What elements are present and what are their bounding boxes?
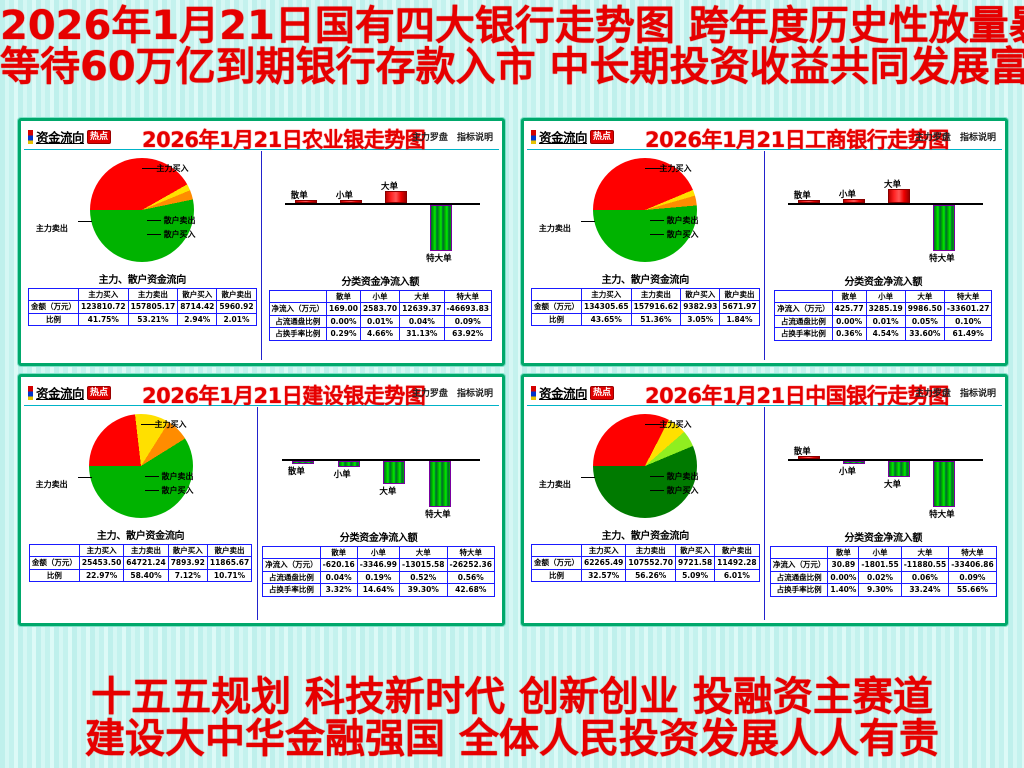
fund-flow-pie-column: 主力买入 散户卖出 散户买入 主力卖出 主力、散户资金流向 主力买入	[527, 407, 765, 620]
row-turnover-ratio-label: 占换手率比例	[775, 328, 833, 340]
pie-label-retail-buy: 散户买入	[162, 485, 194, 496]
cell-net-1: -1801.55	[859, 559, 901, 571]
col-retail-buy: 散户买入	[168, 545, 207, 557]
bar-table-title: 分类资金净流入额	[765, 273, 1002, 288]
row-ratio-label: 比例	[29, 313, 79, 325]
corner-cell	[775, 291, 833, 303]
col-small: 小单	[859, 547, 901, 559]
col-scattered: 散单	[320, 547, 357, 559]
row-net-inflow-label: 净流入（万元）	[775, 303, 833, 315]
col-retail-sell: 散户卖出	[720, 289, 759, 301]
cell-ratio-0: 32.57%	[582, 569, 626, 581]
corner-cell	[532, 289, 582, 301]
cell-net-1: 3285.19	[866, 303, 905, 315]
bar-table-title: 分类资金净流入额	[258, 529, 499, 544]
bank-panel-icbc: 资金流向 热点 2026年1月21日工商银行走势图 主力罗盘 指标说明 主力买入…	[521, 118, 1008, 366]
fund-flow-tag[interactable]: 资金流向 热点	[531, 383, 614, 402]
cell-amount-2: 9721.58	[676, 557, 715, 569]
bar-label-3: 特大单	[426, 252, 452, 264]
bar-小单	[338, 461, 360, 467]
pie-leader-0	[645, 424, 661, 425]
pie-label-retail-sell: 散户卖出	[667, 215, 699, 226]
panel-header: 资金流向 热点 2026年1月21日中国银行走势图 主力罗盘 指标说明	[527, 380, 1002, 406]
bar-特大单	[933, 205, 955, 251]
cell-net-1: 2583.70	[360, 303, 399, 315]
bar-大单	[385, 191, 407, 203]
cell-net-0: -620.16	[320, 559, 357, 571]
fund-flow-pie-column: 主力买入 散户卖出 散户买入 主力卖出 主力、散户资金流向 主力买入	[24, 407, 258, 620]
row-turnover-ratio-label: 占换手率比例	[770, 584, 828, 596]
net-inflow-bar-column: 散单 小单 大单 特大单 分类资金净流入额 散单 小单 大单 特大单	[765, 407, 1002, 620]
row-net-inflow-label: 净流入（万元）	[263, 559, 321, 571]
cell-amount-3: 5671.97	[720, 301, 759, 313]
cell-amount-0: 62265.49	[582, 557, 626, 569]
bar-label-3: 特大单	[425, 508, 451, 520]
pie-leader-3	[78, 477, 92, 478]
cell-turn-0: 1.40%	[828, 584, 859, 596]
fund-flow-label: 资金流向	[539, 127, 587, 146]
tool-indicator-help-link[interactable]: 指标说明	[960, 133, 996, 143]
table-row: 比例 43.65% 51.36% 3.05% 1.84%	[532, 313, 760, 325]
table-header-row: 散单 小单 大单 特大单	[263, 547, 495, 559]
cell-turn-0: 0.36%	[832, 328, 866, 340]
row-net-inflow-label: 净流入（万元）	[770, 559, 828, 571]
col-retail-buy: 散户买入	[681, 289, 720, 301]
cell-turn-1: 4.66%	[360, 328, 399, 340]
bar-label-0: 散单	[291, 189, 308, 201]
classified-net-inflow-table: 散单 小单 大单 特大单 净流入（万元） 30.89 -1801.55 -118…	[770, 546, 997, 597]
pie-chart: 主力买入 散户卖出 散户买入 主力卖出	[527, 151, 764, 269]
bar-label-1: 小单	[839, 465, 856, 477]
main-retail-flow-table: 主力买入 主力卖出 散户买入 散户卖出 金额（万元） 25453.50 6472…	[29, 544, 252, 582]
pie-leader-2	[145, 490, 159, 491]
net-inflow-bar-column: 散单 小单 大单 特大单 分类资金净流入额 散单 小单 大单 特大单	[262, 151, 499, 360]
col-extra-large: 特大单	[944, 291, 992, 303]
bars-icon	[28, 386, 33, 400]
main-retail-flow-table: 主力买入 主力卖出 散户买入 散户卖出 金额（万元） 134305.65 157…	[531, 288, 760, 326]
bars-icon	[531, 130, 536, 144]
table-row: 金额（万元） 123810.72 157805.17 8714.42 5960.…	[29, 301, 257, 313]
cell-ratio-3: 1.84%	[720, 313, 759, 325]
row-amount-label: 金额（万元）	[532, 301, 582, 313]
tool-indicator-help-link[interactable]: 指标说明	[457, 389, 493, 399]
col-retail-sell: 散户卖出	[715, 545, 759, 557]
pie-label-retail-sell: 散户卖出	[164, 215, 196, 226]
pie-leader-1	[650, 476, 664, 477]
bars-icon	[531, 386, 536, 400]
cell-amount-1: 107552.70	[626, 557, 676, 569]
pie-label-main-sell: 主力卖出	[36, 223, 68, 234]
pie-table-title: 主力、散户资金流向	[527, 271, 764, 286]
table-row: 占换手率比例 1.40% 9.30% 33.24% 55.66%	[770, 584, 996, 596]
cell-turn-3: 42.68%	[447, 584, 495, 596]
cell-amount-3: 11492.28	[715, 557, 759, 569]
row-turnover-ratio-label: 占换手率比例	[269, 328, 327, 340]
table-header-row: 散单 小单 大单 特大单	[269, 291, 492, 303]
cell-turn-1: 14.64%	[357, 584, 399, 596]
pie-leader-2	[650, 234, 664, 235]
cell-net-0: 169.00	[327, 303, 361, 315]
corner-cell	[532, 545, 582, 557]
table-row: 占流通盘比例 0.04% 0.19% 0.52% 0.56%	[263, 571, 495, 583]
pie-leader-3	[78, 221, 92, 222]
panel-title: 2026年1月21日工商银行走势图	[645, 124, 949, 154]
pie-leader-2	[147, 234, 161, 235]
cell-ratio-3: 2.01%	[217, 313, 256, 325]
top-headline: 2026年1月21日国有四大银行走势图 跨年度历史性放量暴跌 等待60万亿到期银…	[0, 6, 1024, 88]
cell-amount-1: 157805.17	[128, 301, 178, 313]
table-row: 比例 32.57% 56.26% 5.09% 6.01%	[532, 569, 760, 581]
bar-大单	[383, 461, 405, 484]
pie-leader-0	[645, 168, 661, 169]
cell-float-3: 0.56%	[447, 571, 495, 583]
bottom-headline-line-1: 十五五规划 科技新时代 创新创业 投融资主赛道	[0, 676, 1024, 718]
pie-label-retail-buy: 散户买入	[667, 485, 699, 496]
cell-float-2: 0.04%	[400, 315, 444, 327]
row-turnover-ratio-label: 占换手率比例	[263, 584, 321, 596]
classified-net-inflow-table: 散单 小单 大单 特大单 净流入（万元） 425.77 3285.19 9986…	[774, 290, 992, 341]
pie-label-retail-buy: 散户买入	[164, 229, 196, 240]
cell-net-2: -11880.55	[901, 559, 949, 571]
cell-float-3: 0.09%	[444, 315, 492, 327]
bar-table-title: 分类资金净流入额	[765, 529, 1002, 544]
cell-turn-2: 33.60%	[905, 328, 944, 340]
table-row: 占流通盘比例 0.00% 0.02% 0.06% 0.09%	[770, 571, 996, 583]
cell-ratio-2: 7.12%	[168, 569, 207, 581]
cell-ratio-1: 51.36%	[631, 313, 681, 325]
pie-leader-1	[650, 220, 664, 221]
panel-title: 2026年1月21日中国银行走势图	[645, 380, 949, 410]
tool-compass-link[interactable]: 主力罗盘	[915, 133, 951, 143]
row-ratio-label: 比例	[29, 569, 79, 581]
cell-float-1: 0.02%	[859, 571, 901, 583]
cell-float-0: 0.04%	[320, 571, 357, 583]
cell-float-2: 0.05%	[905, 315, 944, 327]
pie-label-main-sell: 主力卖出	[539, 223, 571, 234]
fund-flow-tag[interactable]: 资金流向 热点	[28, 127, 111, 146]
hot-badge: 热点	[87, 386, 111, 400]
cell-net-3: -46693.83	[444, 303, 492, 315]
corner-cell	[770, 547, 828, 559]
cell-float-2: 0.52%	[400, 571, 448, 583]
row-ratio-label: 比例	[532, 569, 582, 581]
main-retail-flow-table: 主力买入 主力卖出 散户买入 散户卖出 金额（万元） 62265.49 1075…	[531, 544, 760, 582]
hot-badge: 热点	[87, 130, 111, 144]
cell-amount-2: 9382.93	[681, 301, 720, 313]
col-main-buy: 主力买入	[582, 545, 626, 557]
cell-float-1: 0.19%	[357, 571, 399, 583]
cell-float-3: 0.09%	[949, 571, 997, 583]
panel-title: 2026年1月21日建设银走势图	[142, 380, 425, 410]
bank-panel-boc: 资金流向 热点 2026年1月21日中国银行走势图 主力罗盘 指标说明 主力买入…	[521, 374, 1008, 626]
row-float-ratio-label: 占流通盘比例	[775, 315, 833, 327]
bar-chart: 散单 小单 大单 特大单	[765, 151, 1002, 271]
pie-label-retail-sell: 散户卖出	[162, 471, 194, 482]
cell-turn-3: 61.49%	[944, 328, 992, 340]
bar-特大单	[933, 461, 955, 507]
pie-leader-2	[650, 490, 664, 491]
corner-cell	[269, 291, 327, 303]
row-float-ratio-label: 占流通盘比例	[269, 315, 327, 327]
pie-label-retail-buy: 散户买入	[667, 229, 699, 240]
cell-amount-0: 134305.65	[582, 301, 632, 313]
fund-flow-tag[interactable]: 资金流向 热点	[531, 127, 614, 146]
table-row: 净流入（万元） 30.89 -1801.55 -11880.55 -33406.…	[770, 559, 996, 571]
tool-compass-link[interactable]: 主力罗盘	[915, 389, 951, 399]
net-inflow-bar-column: 散单 小单 大单 特大单 分类资金净流入额 散单 小单 大单 特大单	[258, 407, 499, 620]
col-large: 大单	[400, 547, 448, 559]
pie-label-main-sell: 主力卖出	[539, 479, 571, 490]
bar-label-2: 大单	[379, 485, 396, 497]
pie-leader-1	[147, 220, 161, 221]
cell-ratio-0: 43.65%	[582, 313, 632, 325]
bar-label-2: 大单	[884, 478, 901, 490]
cell-turn-0: 3.32%	[320, 584, 357, 596]
col-small: 小单	[360, 291, 399, 303]
table-row: 比例 22.97% 58.40% 7.12% 10.71%	[29, 569, 251, 581]
table-row: 金额（万元） 134305.65 157916.62 9382.93 5671.…	[532, 301, 760, 313]
panel-title: 2026年1月21日农业银走势图	[142, 124, 425, 154]
panel-header: 资金流向 热点 2026年1月21日农业银走势图 主力罗盘 指标说明	[24, 124, 499, 150]
bar-label-0: 散单	[288, 465, 305, 477]
pie-label-main-buy: 主力买入	[659, 419, 691, 430]
cell-net-3: -33601.27	[944, 303, 992, 315]
tool-indicator-help-link[interactable]: 指标说明	[457, 133, 493, 143]
bank-panel-abc: 资金流向 热点 2026年1月21日农业银走势图 主力罗盘 指标说明 主力买入 …	[18, 118, 505, 366]
row-amount-label: 金额（万元）	[29, 557, 79, 569]
cell-net-2: 9986.50	[905, 303, 944, 315]
fund-flow-pie-column: 主力买入 散户卖出 散户买入 主力卖出 主力、散户资金流向 主力买入	[527, 151, 765, 360]
col-extra-large: 特大单	[949, 547, 997, 559]
fund-flow-tag[interactable]: 资金流向 热点	[28, 383, 111, 402]
cell-net-3: -26252.36	[447, 559, 495, 571]
bar-label-0: 散单	[794, 445, 811, 457]
tool-compass-link[interactable]: 主力罗盘	[412, 133, 448, 143]
bars-icon	[28, 130, 33, 144]
col-main-sell: 主力卖出	[626, 545, 676, 557]
cell-ratio-0: 22.97%	[79, 569, 123, 581]
tool-compass-link[interactable]: 主力罗盘	[412, 389, 448, 399]
cell-float-1: 0.01%	[866, 315, 905, 327]
bar-散单	[292, 461, 314, 464]
bottom-headline-line-2: 建设大中华金融强国 全体人民投资发展人人有责	[0, 718, 1024, 760]
col-large: 大单	[901, 547, 949, 559]
net-inflow-bar-column: 散单 小单 大单 特大单 分类资金净流入额 散单 小单 大单 特大单	[765, 151, 1002, 360]
table-row: 比例 41.75% 53.21% 2.94% 2.01%	[29, 313, 257, 325]
bar-label-1: 小单	[839, 188, 856, 200]
cell-ratio-3: 10.71%	[207, 569, 251, 581]
bar-特大单	[429, 461, 451, 507]
cell-turn-1: 9.30%	[859, 584, 901, 596]
cell-turn-2: 33.24%	[901, 584, 949, 596]
bar-label-0: 散单	[794, 189, 811, 201]
corner-cell	[29, 289, 79, 301]
cell-turn-0: 0.29%	[327, 328, 361, 340]
cell-net-0: 30.89	[828, 559, 859, 571]
pie-label-main-buy: 主力买入	[155, 419, 187, 430]
pie-table-title: 主力、散户资金流向	[24, 527, 257, 542]
pie-chart: 主力买入 散户卖出 散户买入 主力卖出	[24, 407, 257, 525]
bank-panel-grid: 资金流向 热点 2026年1月21日农业银走势图 主力罗盘 指标说明 主力买入 …	[18, 118, 1008, 638]
bottom-headline: 十五五规划 科技新时代 创新创业 投融资主赛道 建设大中华金融强国 全体人民投资…	[0, 676, 1024, 760]
pie-chart: 主力买入 散户卖出 散户买入 主力卖出	[527, 407, 764, 525]
panel-tools[interactable]: 主力罗盘 指标说明	[406, 130, 493, 143]
panel-header: 资金流向 热点 2026年1月21日工商银行走势图 主力罗盘 指标说明	[527, 124, 1002, 150]
pie-label-retail-sell: 散户卖出	[667, 471, 699, 482]
cell-ratio-1: 56.26%	[626, 569, 676, 581]
cell-turn-3: 55.66%	[949, 584, 997, 596]
col-scattered: 散单	[327, 291, 361, 303]
table-row: 净流入（万元） -620.16 -3346.99 -13015.58 -2625…	[263, 559, 495, 571]
col-extra-large: 特大单	[444, 291, 492, 303]
bar-table-title: 分类资金净流入额	[262, 273, 499, 288]
cell-amount-1: 64721.24	[124, 557, 168, 569]
col-scattered: 散单	[828, 547, 859, 559]
col-small: 小单	[866, 291, 905, 303]
panel-tools[interactable]: 主力罗盘 指标说明	[909, 386, 996, 399]
table-header-row: 主力买入 主力卖出 散户买入 散户卖出	[532, 289, 760, 301]
row-float-ratio-label: 占流通盘比例	[770, 571, 828, 583]
table-header-row: 主力买入 主力卖出 散户买入 散户卖出	[532, 545, 760, 557]
table-header-row: 主力买入 主力卖出 散户买入 散户卖出	[29, 289, 257, 301]
fund-flow-label: 资金流向	[539, 383, 587, 402]
pie-label-main-buy: 主力买入	[156, 163, 188, 174]
cell-ratio-1: 53.21%	[128, 313, 178, 325]
col-extra-large: 特大单	[447, 547, 495, 559]
cell-ratio-2: 2.94%	[178, 313, 217, 325]
cell-amount-3: 5960.92	[217, 301, 256, 313]
cell-ratio-3: 6.01%	[715, 569, 759, 581]
bar-大单	[888, 461, 910, 477]
bar-chart: 散单 小单 大单 特大单	[765, 407, 1002, 527]
cell-amount-2: 7893.92	[168, 557, 207, 569]
table-row: 占换手率比例 0.36% 4.54% 33.60% 61.49%	[775, 328, 992, 340]
row-ratio-label: 比例	[532, 313, 582, 325]
cell-float-2: 0.06%	[901, 571, 949, 583]
col-small: 小单	[357, 547, 399, 559]
classified-net-inflow-table: 散单 小单 大单 特大单 净流入（万元） -620.16 -3346.99 -1…	[262, 546, 495, 597]
corner-cell	[263, 547, 321, 559]
fund-flow-pie-column: 主力买入 散户卖出 散户买入 主力卖出 主力、散户资金流向 主力买入	[24, 151, 262, 360]
pie-leader-3	[581, 477, 595, 478]
pie-leader-1	[145, 476, 159, 477]
fund-flow-label: 资金流向	[36, 127, 84, 146]
cell-float-0: 0.00%	[327, 315, 361, 327]
bar-label-1: 小单	[334, 468, 351, 480]
row-amount-label: 金额（万元）	[29, 301, 79, 313]
cell-ratio-2: 5.09%	[676, 569, 715, 581]
col-retail-sell: 散户卖出	[207, 545, 251, 557]
cell-turn-1: 4.54%	[866, 328, 905, 340]
bar-大单	[888, 189, 910, 203]
cell-net-2: -13015.58	[400, 559, 448, 571]
col-main-sell: 主力卖出	[128, 289, 178, 301]
table-header-row: 散单 小单 大单 特大单	[770, 547, 996, 559]
col-main-buy: 主力买入	[582, 289, 632, 301]
cell-net-3: -33406.86	[949, 559, 997, 571]
table-row: 占换手率比例 0.29% 4.66% 31.13% 63.92%	[269, 328, 492, 340]
bar-特大单	[430, 205, 452, 251]
cell-float-3: 0.10%	[944, 315, 992, 327]
top-headline-line-1: 2026年1月21日国有四大银行走势图 跨年度历史性放量暴跌	[0, 6, 1024, 47]
tool-indicator-help-link[interactable]: 指标说明	[960, 389, 996, 399]
table-row: 金额（万元） 25453.50 64721.24 7893.92 11865.6…	[29, 557, 251, 569]
classified-net-inflow-table: 散单 小单 大单 特大单 净流入（万元） 169.00 2583.70 1263…	[269, 290, 493, 341]
table-row: 占流通盘比例 0.00% 0.01% 0.04% 0.09%	[269, 315, 492, 327]
pie-table-title: 主力、散户资金流向	[527, 527, 764, 542]
cell-ratio-0: 41.75%	[79, 313, 129, 325]
cell-amount-0: 25453.50	[79, 557, 123, 569]
cell-turn-2: 39.30%	[400, 584, 448, 596]
bar-label-1: 小单	[336, 189, 353, 201]
col-main-sell: 主力卖出	[124, 545, 168, 557]
cell-amount-0: 123810.72	[79, 301, 129, 313]
table-header-row: 主力买入 主力卖出 散户买入 散户卖出	[29, 545, 251, 557]
panel-tools[interactable]: 主力罗盘 指标说明	[406, 386, 493, 399]
cell-amount-3: 11865.67	[207, 557, 251, 569]
cell-float-0: 0.00%	[832, 315, 866, 327]
row-amount-label: 金额（万元）	[532, 557, 582, 569]
table-row: 占流通盘比例 0.00% 0.01% 0.05% 0.10%	[775, 315, 992, 327]
hot-badge: 热点	[590, 386, 614, 400]
hot-badge: 热点	[590, 130, 614, 144]
cell-ratio-1: 58.40%	[124, 569, 168, 581]
pie-leader-3	[581, 221, 595, 222]
bar-label-2: 大单	[381, 180, 398, 192]
cell-turn-3: 63.92%	[444, 328, 492, 340]
pie-label-main-buy: 主力买入	[659, 163, 691, 174]
col-retail-sell: 散户卖出	[217, 289, 256, 301]
bar-label-2: 大单	[884, 178, 901, 190]
bank-panel-ccb: 资金流向 热点 2026年1月21日建设银走势图 主力罗盘 指标说明 主力买入 …	[18, 374, 505, 626]
table-row: 净流入（万元） 425.77 3285.19 9986.50 -33601.27	[775, 303, 992, 315]
pie-chart: 主力买入 散户卖出 散户买入 主力卖出	[24, 151, 261, 269]
bar-小单	[843, 461, 865, 464]
bar-label-3: 特大单	[929, 508, 955, 520]
col-scattered: 散单	[832, 291, 866, 303]
table-row: 金额（万元） 62265.49 107552.70 9721.58 11492.…	[532, 557, 760, 569]
bar-label-3: 特大单	[929, 252, 955, 264]
panel-tools[interactable]: 主力罗盘 指标说明	[909, 130, 996, 143]
col-large: 大单	[905, 291, 944, 303]
col-main-buy: 主力买入	[79, 545, 123, 557]
main-retail-flow-table: 主力买入 主力卖出 散户买入 散户卖出 金额（万元） 123810.72 157…	[28, 288, 257, 326]
panel-header: 资金流向 热点 2026年1月21日建设银走势图 主力罗盘 指标说明	[24, 380, 499, 406]
col-retail-buy: 散户买入	[178, 289, 217, 301]
col-large: 大单	[400, 291, 444, 303]
cell-amount-2: 8714.42	[178, 301, 217, 313]
cell-float-1: 0.01%	[360, 315, 399, 327]
row-net-inflow-label: 净流入（万元）	[269, 303, 327, 315]
corner-cell	[29, 545, 79, 557]
col-main-buy: 主力买入	[79, 289, 129, 301]
cell-net-1: -3346.99	[357, 559, 399, 571]
pie-table-title: 主力、散户资金流向	[24, 271, 261, 286]
col-retail-buy: 散户买入	[676, 545, 715, 557]
cell-amount-1: 157916.62	[631, 301, 681, 313]
row-float-ratio-label: 占流通盘比例	[263, 571, 321, 583]
pie-leader-0	[141, 424, 157, 425]
col-main-sell: 主力卖出	[631, 289, 681, 301]
bar-chart: 散单 小单 大单 特大单	[258, 407, 499, 527]
pie-label-main-sell: 主力卖出	[36, 479, 68, 490]
top-headline-line-2: 等待60万亿到期银行存款入市 中长期投资收益共同发展富裕	[0, 47, 1024, 88]
table-row: 净流入（万元） 169.00 2583.70 12639.37 -46693.8…	[269, 303, 492, 315]
cell-float-0: 0.00%	[828, 571, 859, 583]
cell-turn-2: 31.13%	[400, 328, 444, 340]
cell-net-0: 425.77	[832, 303, 866, 315]
cell-net-2: 12639.37	[400, 303, 444, 315]
